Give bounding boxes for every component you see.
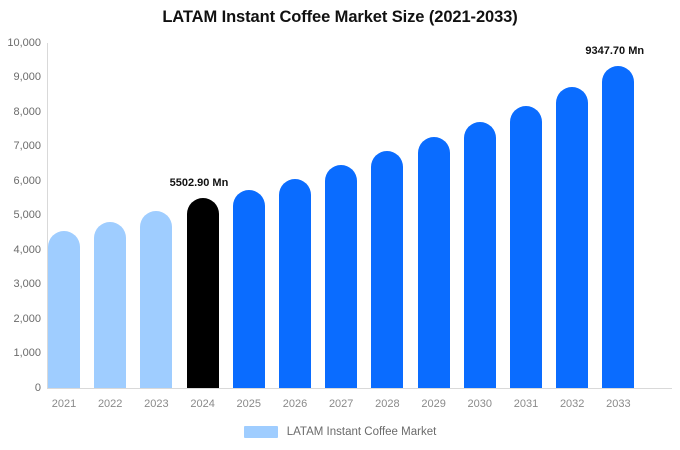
y-axis-tick-label: 4,000 bbox=[0, 245, 41, 256]
bar-2027[interactable] bbox=[325, 165, 357, 388]
y-axis-tick-label: 0 bbox=[0, 383, 41, 394]
bar-2026[interactable] bbox=[279, 179, 311, 388]
bar-2022[interactable] bbox=[94, 222, 126, 388]
y-axis-tick-label: 2,000 bbox=[0, 314, 41, 325]
data-label-2033: 9347.70 Mn bbox=[585, 45, 644, 57]
bar-2024[interactable] bbox=[187, 198, 219, 388]
bar-2021[interactable] bbox=[48, 231, 80, 388]
y-axis-tick-label: 5,000 bbox=[0, 210, 41, 221]
bar-2025[interactable] bbox=[233, 190, 265, 388]
bar-2023[interactable] bbox=[140, 211, 172, 388]
bar-2033[interactable] bbox=[602, 66, 634, 388]
legend-swatch bbox=[244, 426, 278, 438]
y-axis-tick-label: 3,000 bbox=[0, 279, 41, 290]
y-axis-tick-label: 7,000 bbox=[0, 141, 41, 152]
bar-2030[interactable] bbox=[464, 122, 496, 388]
y-axis-tick-labels: 10,0009,0008,0007,0006,0005,0004,0003,00… bbox=[0, 0, 41, 450]
x-axis-tick-label-2033: 2033 bbox=[588, 398, 648, 410]
bar-2028[interactable] bbox=[371, 151, 403, 388]
chart-legend: LATAM Instant Coffee Market bbox=[0, 426, 680, 438]
legend-label: LATAM Instant Coffee Market bbox=[287, 426, 437, 438]
bar-2031[interactable] bbox=[510, 106, 542, 388]
y-axis-tick-label: 1,000 bbox=[0, 348, 41, 359]
bar-2029[interactable] bbox=[418, 137, 450, 388]
bar-2032[interactable] bbox=[556, 87, 588, 388]
y-axis-tick-label: 9,000 bbox=[0, 72, 41, 83]
data-label-2024: 5502.90 Mn bbox=[170, 177, 229, 189]
y-axis-tick-label: 8,000 bbox=[0, 107, 41, 118]
bars-layer: 2021202220232024202520262027202820292030… bbox=[48, 0, 672, 450]
y-axis-tick-label: 10,000 bbox=[0, 38, 41, 49]
y-axis-tick-label: 6,000 bbox=[0, 176, 41, 187]
bar-chart: LATAM Instant Coffee Market Size (2021-2… bbox=[0, 0, 680, 450]
